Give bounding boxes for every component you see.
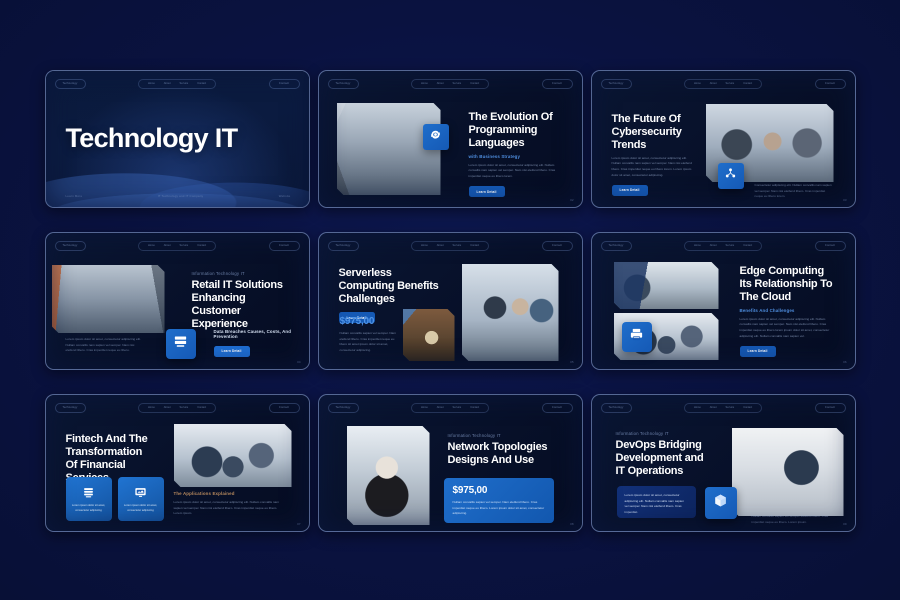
slide-headline: Retail IT Solutions Enhancing Customer E… xyxy=(192,279,296,330)
slide-caption: Consectetur adipiscing elit. Nullam conv… xyxy=(755,183,833,200)
nav-link-contact[interactable]: Contact xyxy=(743,82,752,85)
slide-headline: Network Topologies Designs And Use xyxy=(448,441,548,467)
nav-link-home[interactable]: Home xyxy=(148,82,155,85)
slide-subhead: with Business Strategy xyxy=(469,154,564,159)
nav-link-home[interactable]: Home xyxy=(694,406,701,409)
slide-navbar: Technology Home About Service Contact Co… xyxy=(601,240,846,251)
slide-sub-block: The Applications Explained Lorem ipsum d… xyxy=(174,491,286,517)
page-number: 08 xyxy=(570,522,573,526)
nav-link-about[interactable]: About xyxy=(164,82,171,85)
print-icon xyxy=(629,327,644,347)
nav-logo[interactable]: Technology xyxy=(601,241,632,251)
nav-logo[interactable]: Technology xyxy=(55,79,86,89)
nav-link-service[interactable]: Service xyxy=(726,406,735,409)
panel-text: Lorem ipsum dolor sit amet, consectetur … xyxy=(625,493,688,516)
nav-links[interactable]: Home About Service Contact xyxy=(138,241,216,251)
slide-evolution[interactable]: Technology Home About Service Contact Co… xyxy=(318,70,583,208)
nav-link-service[interactable]: Service xyxy=(453,244,462,247)
photo-image xyxy=(174,424,292,487)
slide-serverless[interactable]: Technology Home About Service Contact Co… xyxy=(318,232,583,370)
nav-link-contact[interactable]: Contact xyxy=(743,244,752,247)
nav-links[interactable]: Home About Service Contact xyxy=(684,79,762,89)
nav-links[interactable]: Home About Service Contact xyxy=(138,403,216,413)
price-value: $975,00 xyxy=(453,485,545,496)
slide-headline: DevOps Bridging Development and IT Opera… xyxy=(616,439,711,478)
slide-body: Nullam convallis sapien vel semper. Nam … xyxy=(453,500,545,517)
slide-text-block: Information Technology IT DevOps Bridgin… xyxy=(616,431,711,478)
nav-links[interactable]: Home About Service Contact xyxy=(411,241,489,251)
slide-navbar: Technology Home About Service Contact Co… xyxy=(328,402,573,413)
nav-links[interactable]: Home About Service Contact xyxy=(684,403,762,413)
photo-image xyxy=(52,265,165,333)
hero-footer: Learn More IT Technology and IT Company … xyxy=(66,194,291,198)
slide-text-block: Edge Computing Its Relationship To The C… xyxy=(740,265,838,357)
nav-logo[interactable]: Technology xyxy=(55,241,86,251)
box-icon-badge xyxy=(705,487,737,519)
nav-links[interactable]: Home About Service Contact xyxy=(411,403,489,413)
slide-photo xyxy=(174,424,292,487)
slide-photo xyxy=(462,264,559,361)
slide-caption: Lorem ipsum dolor sit amet, consectetur … xyxy=(66,337,144,354)
nav-cta-button[interactable]: Contact xyxy=(815,241,846,251)
slide-subhead: The Applications Explained xyxy=(174,491,286,496)
photo-image xyxy=(403,309,455,361)
server-icon-badge xyxy=(166,329,196,359)
slide-photo xyxy=(732,428,844,516)
price-panel[interactable]: $975,00 Nullam convallis sapien vel semp… xyxy=(444,478,554,523)
slide-navbar: Technology Home About Service Contact Co… xyxy=(601,402,846,413)
info-panel[interactable]: Lorem ipsum dolor sit amet, consectetur … xyxy=(617,486,696,518)
slide-headline: The Evolution Of Programming Languages xyxy=(469,111,564,150)
feature-card-text: Lorem ipsum dolor sit amet, consectetur … xyxy=(72,504,106,514)
slide-eyebrow: Information Technology IT xyxy=(448,433,548,438)
nav-link-home[interactable]: Home xyxy=(148,244,155,247)
nav-link-about[interactable]: About xyxy=(437,406,444,409)
photo-image xyxy=(462,264,559,361)
nav-link-service[interactable]: Service xyxy=(180,82,189,85)
page-number: 05 xyxy=(570,360,573,364)
nav-link-about[interactable]: About xyxy=(437,244,444,247)
slide-body: Nullam convallis sapien vel semper. Nam … xyxy=(340,331,398,354)
page-number: 07 xyxy=(297,522,300,526)
nav-logo[interactable]: Technology xyxy=(328,241,359,251)
nav-link-contact[interactable]: Contact xyxy=(470,244,479,247)
slide-photo xyxy=(347,426,430,525)
slide-headline: Serverless Computing Benefits Challenges xyxy=(339,267,444,306)
nav-link-home[interactable]: Home xyxy=(694,244,701,247)
nav-link-service[interactable]: Service xyxy=(726,244,735,247)
photo-image xyxy=(347,426,430,525)
nav-logo[interactable]: Technology xyxy=(601,79,632,89)
nav-link-home[interactable]: Home xyxy=(421,406,428,409)
nav-link-about[interactable]: About xyxy=(710,244,717,247)
nav-link-about[interactable]: About xyxy=(164,406,171,409)
nav-link-about[interactable]: About xyxy=(164,244,171,247)
slide-fintech[interactable]: Technology Home About Service Contact Co… xyxy=(45,394,310,532)
nav-cta-button[interactable]: Contact xyxy=(815,403,846,413)
network-icon-badge xyxy=(718,163,744,189)
network-icon xyxy=(724,167,737,185)
nav-link-about[interactable]: About xyxy=(437,82,444,85)
server-stack-icon xyxy=(81,485,97,499)
nav-links[interactable]: Home About Service Contact xyxy=(138,79,216,89)
slide-network[interactable]: Technology Home About Service Contact Co… xyxy=(318,394,583,532)
feature-card-text: Lorem ipsum dolor sit amet, consectetur … xyxy=(124,504,158,514)
slide-navbar: Technology Home About Service Contact Co… xyxy=(601,78,846,89)
nav-logo[interactable]: Technology xyxy=(55,403,86,413)
recycle-icon xyxy=(429,128,442,146)
photo-image xyxy=(732,428,844,516)
chart-monitor-icon xyxy=(133,485,149,499)
nav-logo[interactable]: Technology xyxy=(328,79,359,89)
page-number: 04 xyxy=(297,360,300,364)
slide-eyebrow: Information Technology IT xyxy=(192,271,296,276)
slide-navbar: Technology Home About Service Contact Co… xyxy=(328,240,573,251)
hero-footer-left[interactable]: Learn More xyxy=(66,194,83,198)
slide-subhead: Benefits And Challenges xyxy=(740,308,838,313)
nav-link-service[interactable]: Service xyxy=(453,406,462,409)
page-number: 03 xyxy=(843,198,846,202)
slide-text-block: Information Technology IT Retail IT Solu… xyxy=(192,271,296,330)
slide-price-block: $975,00 Nullam convallis sapien vel semp… xyxy=(340,316,398,354)
learn-detail-button[interactable]: Learn Detail xyxy=(469,186,505,197)
nav-link-home[interactable]: Home xyxy=(421,244,428,247)
nav-logo[interactable]: Technology xyxy=(601,403,632,413)
nav-link-contact[interactable]: Contact xyxy=(197,406,206,409)
server-icon xyxy=(173,334,188,354)
box-icon xyxy=(713,493,728,513)
nav-link-service[interactable]: Service xyxy=(453,82,462,85)
nav-cta-button[interactable]: Contact xyxy=(269,241,300,251)
nav-link-contact[interactable]: Contact xyxy=(470,82,479,85)
slide-title[interactable]: Technology Home About Service Contact Co… xyxy=(45,70,310,208)
learn-detail-button[interactable]: Learn Detail xyxy=(214,346,250,357)
nav-link-about[interactable]: About xyxy=(710,82,717,85)
recycle-icon-badge xyxy=(423,124,449,150)
slide-body: Lorem ipsum dolor sit amet, consectetur … xyxy=(612,156,694,179)
learn-detail-button[interactable]: Learn Detail xyxy=(740,346,776,357)
page-title: Technology IT xyxy=(66,125,238,152)
slide-text-block: Information Technology IT Network Topolo… xyxy=(448,433,548,467)
nav-cta-button[interactable]: Contact xyxy=(815,79,846,89)
nav-link-service[interactable]: Service xyxy=(180,406,189,409)
nav-cta-button[interactable]: Contact xyxy=(542,241,573,251)
nav-link-about[interactable]: About xyxy=(710,406,717,409)
learn-detail-button[interactable]: Learn Detail xyxy=(612,185,648,196)
nav-link-contact[interactable]: Contact xyxy=(470,406,479,409)
slide-body: Lorem ipsum dolor sit amet, consectetur … xyxy=(174,500,286,517)
photo-image xyxy=(614,262,719,309)
slide-navbar: Technology Home About Service Contact Co… xyxy=(55,78,300,89)
slide-headline: The Future Of Cybersecurity Trends xyxy=(612,113,694,152)
slide-devops[interactable]: Technology Home About Service Contact Co… xyxy=(591,394,856,532)
page-number: 06 xyxy=(843,360,846,364)
nav-link-service[interactable]: Service xyxy=(726,82,735,85)
print-icon-badge xyxy=(622,322,652,352)
hero-footer-right[interactable]: Website xyxy=(279,194,291,198)
nav-links[interactable]: Home About Service Contact xyxy=(411,79,489,89)
feature-card-1[interactable]: Lorem ipsum dolor sit amet, consectetur … xyxy=(66,477,112,521)
nav-logo[interactable]: Technology xyxy=(328,403,359,413)
nav-cta-button[interactable]: Contact xyxy=(269,403,300,413)
slide-text-block: The Future Of Cybersecurity Trends Lorem… xyxy=(612,113,694,196)
slide-grid: Technology Home About Service Contact Co… xyxy=(0,0,900,600)
nav-link-contact[interactable]: Contact xyxy=(197,82,206,85)
nav-link-home[interactable]: Home xyxy=(421,82,428,85)
nav-cta-button[interactable]: Contact xyxy=(542,403,573,413)
feature-card-2[interactable]: Lorem ipsum dolor sit amet, consectetur … xyxy=(118,477,164,521)
nav-link-contact[interactable]: Contact xyxy=(197,244,206,247)
slide-retail[interactable]: Technology Home About Service Contact Co… xyxy=(45,232,310,370)
slide-subhead: Data Breaches Causes, Costs, And Prevent… xyxy=(214,329,296,339)
nav-cta-button[interactable]: Contact xyxy=(269,79,300,89)
slide-photo xyxy=(52,265,165,333)
slide-edge[interactable]: Technology Home About Service Contact Co… xyxy=(591,232,856,370)
nav-link-service[interactable]: Service xyxy=(180,244,189,247)
slide-sub-block: Data Breaches Causes, Costs, And Prevent… xyxy=(214,329,296,357)
nav-link-home[interactable]: Home xyxy=(694,82,701,85)
slide-eyebrow: Information Technology IT xyxy=(616,431,711,436)
slide-caption: Nullam convallis sapien vel semper eleif… xyxy=(752,514,840,525)
slide-navbar: Technology Home About Service Contact Co… xyxy=(55,402,300,413)
nav-cta-button[interactable]: Contact xyxy=(542,79,573,89)
price-value: $975,00 xyxy=(340,316,398,327)
nav-link-contact[interactable]: Contact xyxy=(743,406,752,409)
slide-text-block: The Evolution Of Programming Languages w… xyxy=(469,111,564,198)
page-number: 02 xyxy=(570,198,573,202)
hero-footer-center: IT Technology and IT Company xyxy=(158,194,204,198)
slide-navbar: Technology Home About Service Contact Co… xyxy=(55,240,300,251)
nav-link-home[interactable]: Home xyxy=(148,406,155,409)
nav-links[interactable]: Home About Service Contact xyxy=(684,241,762,251)
slide-headline: Edge Computing Its Relationship To The C… xyxy=(740,265,838,304)
slide-photo-secondary xyxy=(403,309,455,361)
slide-photo-top xyxy=(614,262,719,309)
page-number: 09 xyxy=(843,522,846,526)
slide-body: Lorem ipsum dolor sit amet, consectetur … xyxy=(469,163,564,180)
slide-body: Lorem ipsum dolor sit amet, consectetur … xyxy=(740,317,838,340)
slide-cybersecurity[interactable]: Technology Home About Service Contact Co… xyxy=(591,70,856,208)
slide-navbar: Technology Home About Service Contact Co… xyxy=(328,78,573,89)
